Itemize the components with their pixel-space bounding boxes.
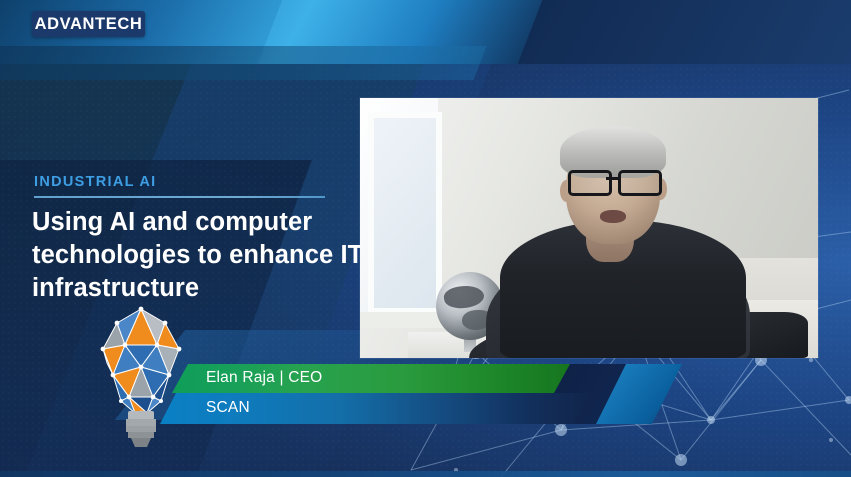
- header-underlay-band: [0, 46, 487, 80]
- speaker-video-frame[interactable]: [360, 98, 818, 358]
- speaker-mouth: [600, 210, 626, 223]
- speaker-name-label: Elan Raja | CEO: [206, 369, 322, 387]
- presentation-slide: ADVANTECH INDUSTRIAL AI Using AI and com…: [0, 0, 851, 477]
- eyebrow-label: INDUSTRIAL AI: [34, 174, 156, 190]
- eyeglass-lens-left: [568, 170, 612, 196]
- eyeglasses-icon: [568, 170, 660, 190]
- advantech-logo-plate: ADVANTECH: [32, 11, 145, 37]
- globe-continent-a: [443, 283, 486, 310]
- bottom-accent-strip: [0, 471, 851, 477]
- advantech-logo-text: ADVANTECH: [35, 16, 143, 33]
- video-window: [360, 98, 438, 316]
- polygonal-lightbulb-icon: [95, 305, 187, 455]
- eyeglass-lens-right: [618, 170, 662, 196]
- video-window-frame: [368, 112, 442, 314]
- page-title: Using AI and computer technologies to en…: [32, 206, 372, 305]
- title-divider-rule: [34, 196, 325, 198]
- speaker-company-label: SCAN: [206, 399, 250, 417]
- eyeglass-bridge: [606, 177, 618, 180]
